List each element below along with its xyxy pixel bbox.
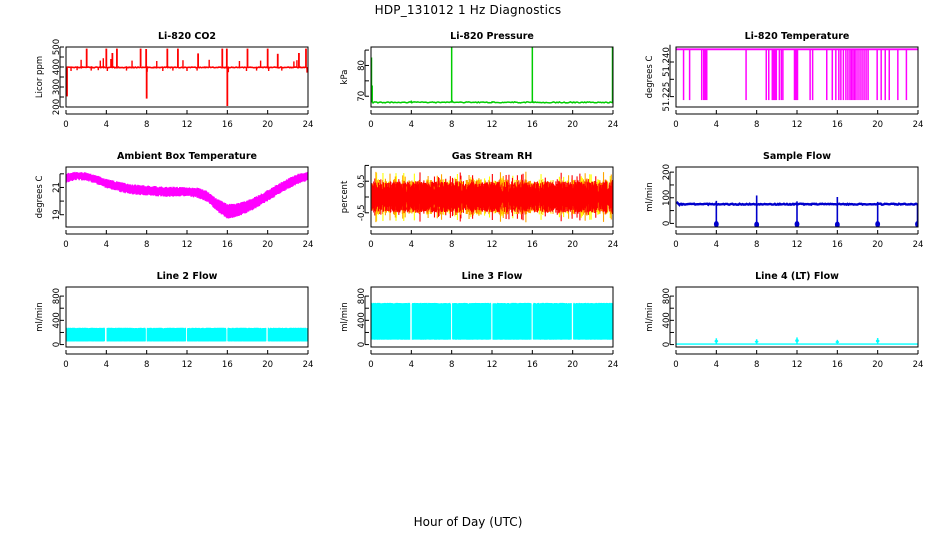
x-tick-label: 4 [104,120,109,130]
x-tick-label: 4 [104,240,109,250]
x-tick-label: 24 [913,240,924,250]
x-tick-label: 20 [872,240,883,250]
y-axis-label: kPa [340,70,350,85]
panel-title: Line 4 (LT) Flow [755,271,839,282]
y-tick-label: 800 [52,288,62,304]
x-tick-label: 16 [527,240,538,250]
panel-sample-flow: Sample Flow0100200ml/min04812162024 [638,145,928,265]
y-tick-label: 500 [52,39,62,55]
x-tick-label: 8 [754,120,759,130]
y-tick-label: 200 [662,164,672,180]
series-gas-stream-rh [372,172,613,222]
series-line-4-lt-flow [677,337,918,344]
y-axis: 200300400500Licor ppm [35,39,64,115]
y-tick-label: 800 [662,288,672,304]
y-axis-label: ml/min [645,182,655,212]
y-axis-label: Licor ppm [35,56,45,98]
series-line-2-flow [67,328,308,342]
y-tick-label: 70 [357,91,367,102]
x-tick-label: 16 [832,240,843,250]
series-li820-temperature [677,49,918,100]
x-tick-label: 20 [872,120,883,130]
panel-title: Gas Stream RH [452,151,533,162]
x-tick-label: 24 [608,120,619,130]
panel-title: Ambient Box Temperature [117,151,257,162]
series-li820-co2 [67,49,308,106]
x-tick-label: 20 [262,240,273,250]
x-tick-label: 24 [303,360,314,370]
x-tick-label: 12 [792,240,803,250]
y-tick-label: 0 [662,221,672,226]
x-tick-label: 24 [303,240,314,250]
x-tick-label: 0 [63,240,68,250]
panel-title: Sample Flow [763,151,831,162]
panel-gas-stream-rh: Gas Stream RH-0.50.5percent04812162024 [333,145,623,265]
y-tick-label: 100 [662,190,672,206]
x-tick-label: 16 [222,360,233,370]
x-tick-label: 20 [872,360,883,370]
panel-li820-co2: Li-820 CO2200300400500Licor ppm048121620… [28,25,318,145]
x-tick-label: 20 [567,360,578,370]
y-axis: -0.50.5percent [340,165,369,221]
x-tick-label: 8 [144,120,149,130]
y-axis-label: degrees C [35,176,45,219]
x-tick-label: 4 [104,360,109,370]
y-axis: 0400800ml/min [645,288,674,347]
y-tick-label: 0 [357,342,367,347]
x-tick-label: 8 [144,360,149,370]
x-tick-label: 24 [303,120,314,130]
x-tick-label: 8 [449,120,454,130]
x-tick-label: 16 [222,240,233,250]
figure-title: HDP_131012 1 Hz Diagnostics [0,3,936,17]
x-tick-label: 8 [449,240,454,250]
x-tick-label: 12 [182,360,193,370]
x-tick-label: 8 [754,240,759,250]
x-tick-label: 4 [409,120,414,130]
x-axis: 04812162024 [673,350,923,370]
y-axis: 0400800ml/min [35,288,64,347]
y-tick-label: -0.5 [357,204,367,221]
x-axis: 04812162024 [368,110,618,130]
y-tick-label: 400 [52,312,62,328]
x-tick-label: 8 [754,360,759,370]
x-tick-label: 4 [714,240,719,250]
x-tick-label: 0 [368,360,373,370]
y-axis: 1921degrees C [35,174,64,220]
panel-title: Li-820 Temperature [745,31,850,42]
x-tick-label: 12 [182,240,193,250]
panel-line-4-lt-flow: Line 4 (LT) Flow0400800ml/min04812162024 [638,265,928,385]
x-tick-label: 16 [527,360,538,370]
plot-frame [371,47,613,107]
x-tick-label: 12 [487,120,498,130]
y-tick-label: 19 [52,209,62,220]
y-tick-label: 400 [357,312,367,328]
y-axis-label: ml/min [35,302,45,332]
x-tick-label: 24 [608,240,619,250]
x-tick-label: 0 [673,120,678,130]
y-axis-label: ml/min [645,302,655,332]
y-tick-label: 400 [662,312,672,328]
y-tick-label: 51.225 [662,82,672,112]
y-axis: 7080kPa [340,50,369,102]
x-axis: 04812162024 [673,110,923,130]
x-tick-label: 8 [144,240,149,250]
y-axis-label: percent [340,180,350,213]
y-tick-label: 0.5 [357,174,367,188]
y-tick-label: 300 [52,79,62,95]
diagnostics-figure: HDP_131012 1 Hz Diagnostics Hour of Day … [0,0,936,540]
x-tick-label: 0 [673,240,678,250]
x-tick-label: 24 [913,120,924,130]
panel-title: Li-820 Pressure [450,31,534,42]
x-tick-label: 4 [714,360,719,370]
x-tick-label: 0 [368,240,373,250]
x-tick-label: 24 [608,360,619,370]
x-tick-label: 24 [913,360,924,370]
x-tick-label: 12 [182,120,193,130]
panel-li820-pressure: Li-820 Pressure7080kPa04812162024 [333,25,623,145]
y-axis: 51.22551.240degrees C [645,45,674,112]
x-tick-label: 12 [792,120,803,130]
x-tick-label: 16 [222,120,233,130]
y-tick-label: 21 [52,182,62,193]
panel-line-2-flow: Line 2 Flow0400800ml/min04812162024 [28,265,318,385]
panel-title: Li-820 CO2 [158,31,216,42]
y-tick-label: 0 [662,342,672,347]
x-tick-label: 0 [368,120,373,130]
x-tick-label: 20 [567,120,578,130]
panel-ambient-box-temperature: Ambient Box Temperature1921degrees C0481… [28,145,318,265]
x-tick-label: 12 [792,360,803,370]
y-axis-label: ml/min [340,302,350,332]
x-axis: 04812162024 [63,350,313,370]
x-tick-label: 0 [673,360,678,370]
series-line-3-flow [372,303,612,340]
y-axis: 0100200ml/min [645,164,674,226]
y-tick-label: 80 [357,60,367,71]
x-tick-label: 12 [487,240,498,250]
x-axis: 04812162024 [368,230,618,250]
x-tick-label: 4 [714,120,719,130]
x-tick-label: 20 [262,360,273,370]
y-tick-label: 51.240 [662,47,672,77]
y-tick-label: 200 [52,99,62,115]
x-axis: 04812162024 [63,110,313,130]
x-axis: 04812162024 [63,230,313,250]
x-axis: 04812162024 [673,230,923,250]
x-tick-label: 0 [63,360,68,370]
y-tick-label: 0 [52,342,62,347]
x-tick-label: 16 [527,120,538,130]
panel-li820-temperature: Li-820 Temperature51.22551.240degrees C0… [638,25,928,145]
series-ambient-box-temperature [67,172,308,219]
panel-line-3-flow: Line 3 Flow0400800ml/min04812162024 [333,265,623,385]
x-tick-label: 8 [449,360,454,370]
x-tick-label: 16 [832,360,843,370]
y-tick-label: 800 [357,288,367,304]
x-tick-label: 20 [567,240,578,250]
y-axis-label: degrees C [645,56,655,99]
x-tick-label: 20 [262,120,273,130]
x-tick-label: 16 [832,120,843,130]
x-axis: 04812162024 [368,350,618,370]
series-li820-pressure [372,47,613,103]
figure-x-axis-label: Hour of Day (UTC) [0,515,936,529]
x-tick-label: 4 [409,240,414,250]
panel-title: Line 3 Flow [462,271,523,282]
y-tick-label: 400 [52,59,62,75]
x-tick-label: 4 [409,360,414,370]
plot-frame [66,47,308,107]
series-sample-flow [677,195,920,227]
x-tick-label: 12 [487,360,498,370]
panel-title: Line 2 Flow [157,271,218,282]
x-tick-label: 0 [63,120,68,130]
y-axis: 0400800ml/min [340,288,369,347]
